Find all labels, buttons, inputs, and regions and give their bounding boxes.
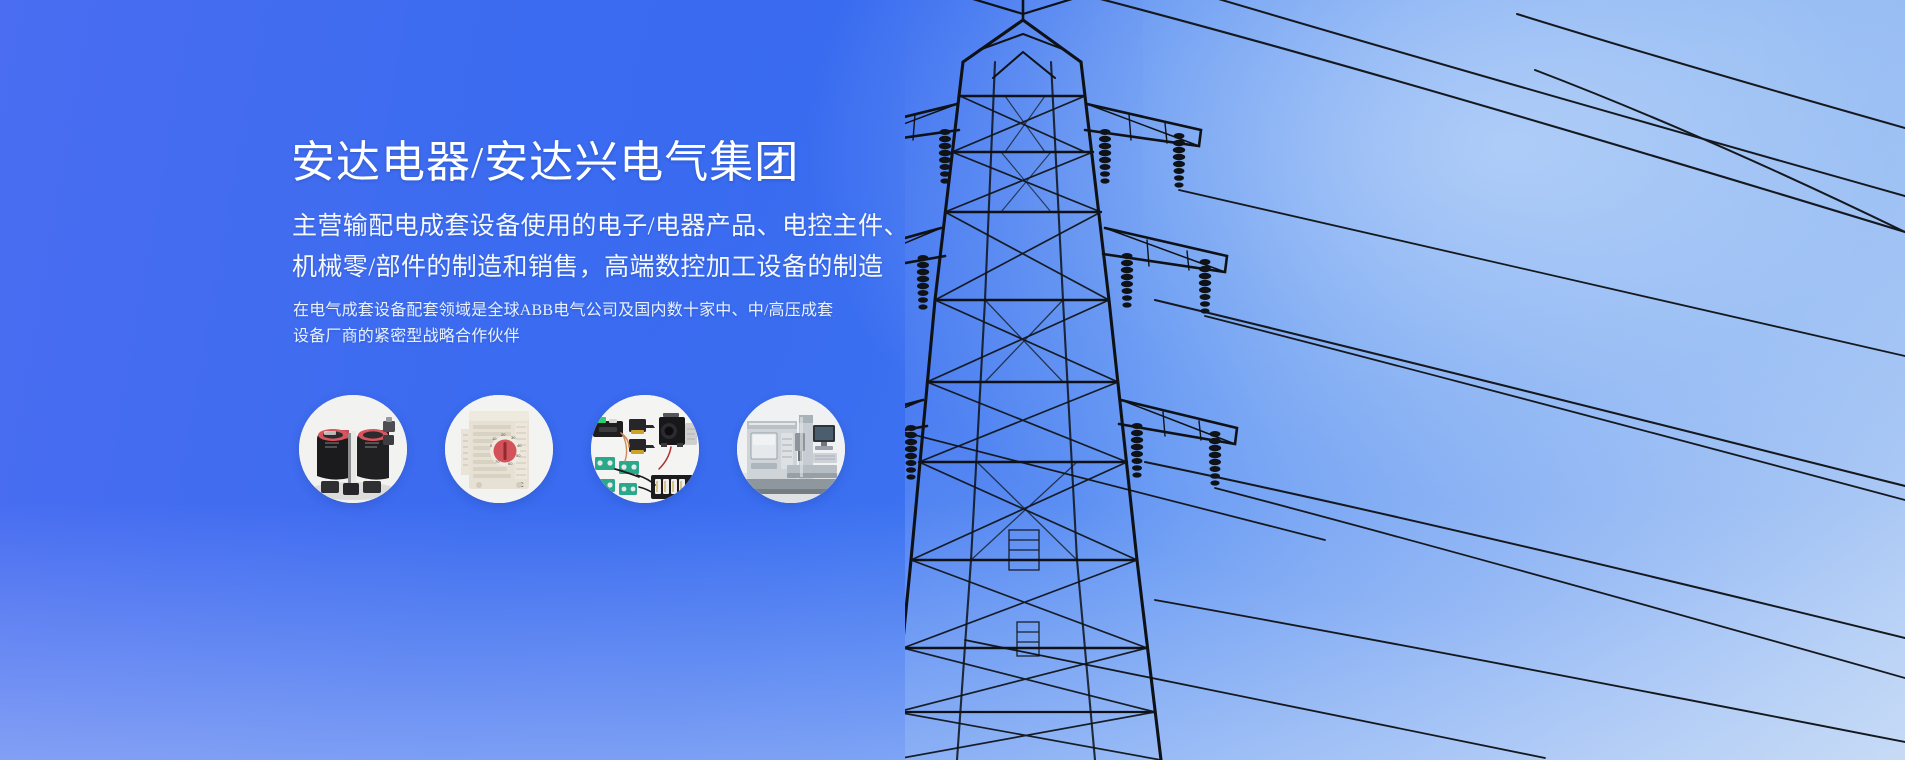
banner-subtitle-line-2: 机械零/部件的制造和销售，高端数控加工设备的制造 (292, 247, 884, 289)
page-title: 安达电器/安达兴电气集团 (291, 136, 799, 190)
svg-text:30: 30 (511, 435, 516, 440)
cnc-machine-product-thumb[interactable] (737, 395, 845, 503)
banner-paragraph-line-1: 在电气成套设备配套领域是全球ABB电气公司及国内数十家中、中/高压成套 (293, 298, 833, 323)
banner-subtitle-line-1: 主营输配电成套设备使用的电子/电器产品、电控主件、 (292, 206, 909, 248)
hero-banner: 安达电器/安达兴电气集团 主营输配电成套设备使用的电子/电器产品、电控主件、 机… (0, 0, 1905, 760)
svg-text:20: 20 (501, 432, 506, 437)
svg-text:70: 70 (495, 459, 500, 464)
thermostat-product-thumb[interactable]: 010 2030 4050 6070 °C (445, 395, 553, 503)
capacitor-bank-product-thumb[interactable] (299, 395, 407, 503)
banner-paragraph-line-2: 设备厂商的紧密型战略合作伙伴 (293, 324, 520, 349)
svg-text:40: 40 (517, 443, 522, 448)
svg-text:10: 10 (492, 436, 497, 441)
electronic-components-product-thumb[interactable] (591, 395, 699, 503)
product-thumbnail-row: 010 2030 4050 6070 °C (299, 395, 845, 503)
svg-text:50: 50 (516, 453, 521, 458)
svg-text:60: 60 (508, 461, 513, 466)
banner-text-block: 安达电器/安达兴电气集团 主营输配电成套设备使用的电子/电器产品、电控主件、 机… (291, 0, 1191, 760)
